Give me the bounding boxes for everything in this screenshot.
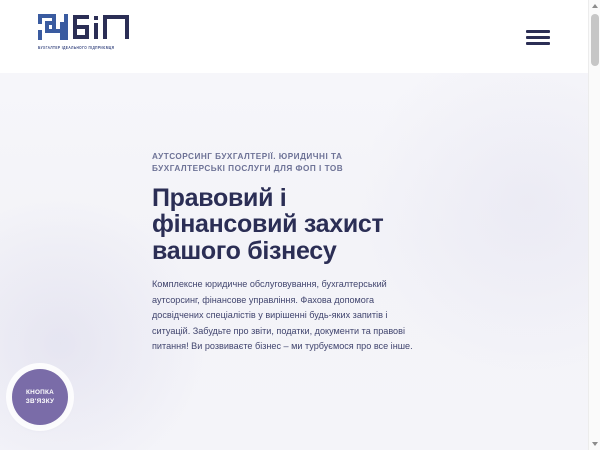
- browser-viewport: БУХГАЛТЕР ІДЕАЛЬНОГО ПІДПРИЄМЦЯ АУТСОРСИ…: [0, 0, 600, 450]
- burger-line-1: [526, 30, 550, 33]
- burger-line-3: [526, 42, 550, 45]
- vertical-scrollbar[interactable]: [588, 0, 600, 450]
- contact-button-line-2: ЗВ'ЯЗКУ: [26, 397, 55, 406]
- logo-tagline: БУХГАЛТЕР ІДЕАЛЬНОГО ПІДПРИЄМЦЯ: [38, 45, 134, 50]
- page-title: Правовий і фінансовий захист вашого бізн…: [152, 185, 387, 265]
- scrollbar-thumb[interactable]: [591, 14, 599, 66]
- burger-line-2: [526, 36, 550, 39]
- contact-button-line-1: КНОПКА: [26, 388, 54, 397]
- logo-row: [38, 14, 131, 40]
- maze-logo-icon: [38, 14, 68, 40]
- page-content: БУХГАЛТЕР ІДЕАЛЬНОГО ПІДПРИЄМЦЯ АУТСОРСИ…: [0, 0, 588, 450]
- hero-section: АУТСОРСИНГ БУХГАЛТЕРІЇ. ЮРИДИЧНІ ТА БУХГ…: [0, 73, 588, 450]
- logo-wordmark: [73, 14, 131, 40]
- hamburger-menu-icon[interactable]: [526, 30, 550, 45]
- scroll-up-arrow-icon[interactable]: [589, 0, 600, 12]
- hero-content: АУТСОРСИНГ БУХГАЛТЕРІЇ. ЮРИДИЧНІ ТА БУХГ…: [152, 151, 452, 354]
- site-logo[interactable]: БУХГАЛТЕР ІДЕАЛЬНОГО ПІДПРИЄМЦЯ: [38, 14, 134, 49]
- hero-eyebrow: АУТСОРСИНГ БУХГАЛТЕРІЇ. ЮРИДИЧНІ ТА БУХГ…: [152, 151, 392, 176]
- scroll-down-arrow-icon[interactable]: [589, 438, 600, 450]
- contact-button[interactable]: КНОПКА ЗВ'ЯЗКУ: [12, 369, 68, 425]
- hero-paragraph: Комплексне юридичне обслуговування, бухг…: [152, 277, 424, 354]
- site-header: БУХГАЛТЕР ІДЕАЛЬНОГО ПІДПРИЄМЦЯ: [0, 0, 588, 73]
